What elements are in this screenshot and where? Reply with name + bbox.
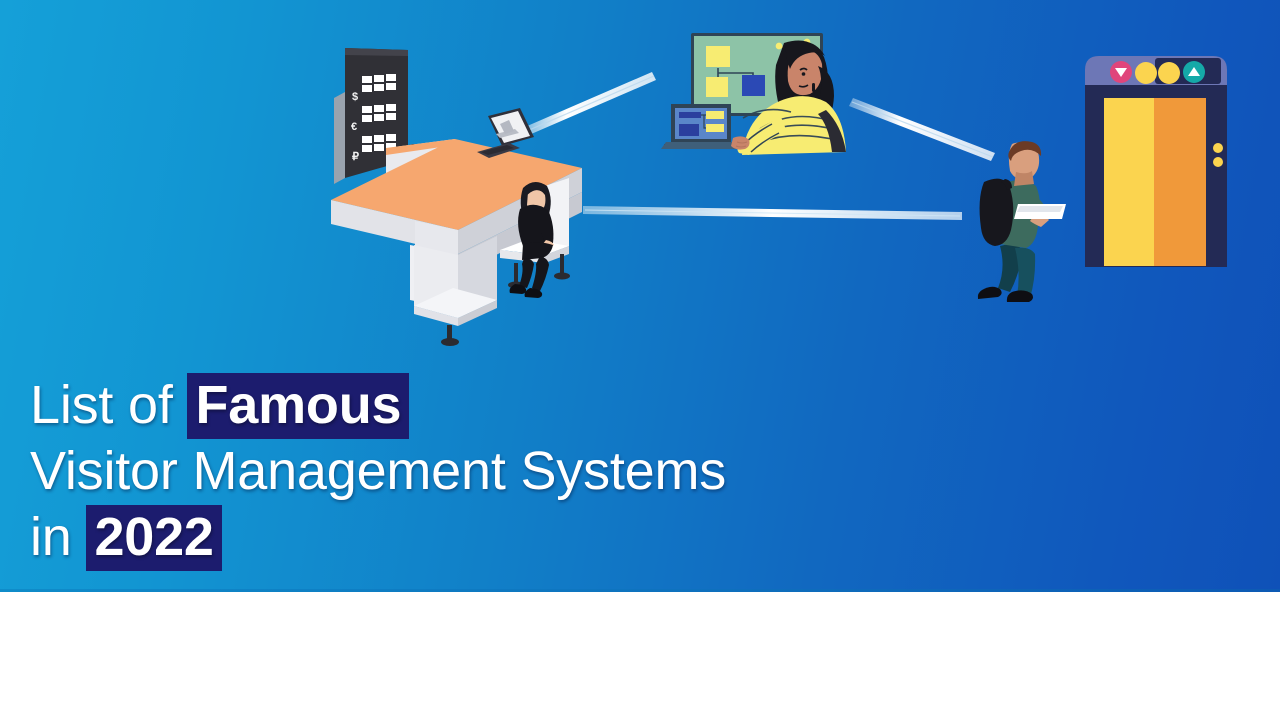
headline-line1-plain: List of (30, 375, 187, 435)
footer-bar: The importance of visitor management sys… (0, 592, 1280, 720)
connector-screen-to-visitor (849, 98, 995, 161)
video-workstation-scene (661, 33, 846, 155)
svg-text:€: € (351, 121, 357, 133)
headline-line-1: List of Famous (30, 372, 850, 438)
connector-desk-to-elevator (583, 206, 962, 220)
headline-line2-plain: Visitor Management Systems (30, 441, 726, 501)
elevator-indicator-down (1110, 61, 1132, 83)
elevator (1085, 56, 1227, 267)
headline-highlight-year: 2022 (86, 505, 221, 571)
connector-desk-to-screen (518, 72, 656, 138)
reception-laptop (477, 108, 534, 158)
headline-line-2: Visitor Management Systems (30, 438, 850, 504)
headline-line3-plain: in (30, 507, 86, 567)
headline-line-3: in 2022 (30, 504, 850, 570)
headline: List of Famous Visitor Management System… (30, 372, 850, 570)
svg-text:$: $ (352, 91, 358, 103)
elevator-indicator-lamp-2 (1158, 62, 1180, 84)
hero-section: $ € ₽ (0, 0, 1280, 592)
svg-text:₽: ₽ (352, 151, 359, 163)
visitor-with-backpack (978, 141, 1066, 302)
headline-highlight-famous: Famous (187, 373, 409, 439)
slide-root: $ € ₽ (0, 0, 1280, 720)
elevator-indicator-up (1183, 61, 1205, 83)
workstation-laptop (661, 104, 742, 149)
elevator-indicator-lamp-1 (1135, 62, 1157, 84)
